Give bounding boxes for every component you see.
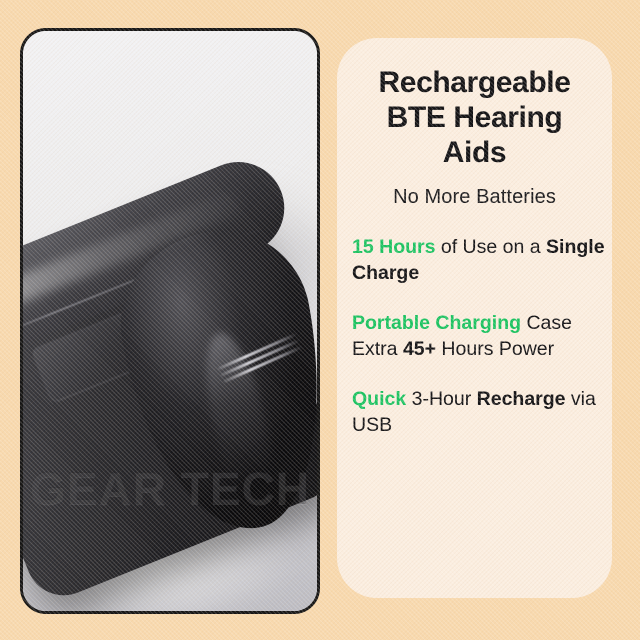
product-photo-card: GEAR TECH xyxy=(20,28,320,614)
watermark-text: GEAR TECH xyxy=(23,461,317,515)
feature-text-run: of Use on a xyxy=(435,236,546,258)
feature-text-run: Portable Charging xyxy=(352,312,521,334)
feature-text-run: Quick xyxy=(352,388,406,410)
marketing-text-card: Rechargeable BTE Hearing Aids No More Ba… xyxy=(337,38,612,598)
product-poster: GEAR TECH Rechargeable BTE Hearing Aids … xyxy=(0,0,640,640)
product-photo: GEAR TECH xyxy=(23,31,317,611)
feature-text-run: 3-Hour xyxy=(406,388,476,410)
feature-list: 15 Hours of Use on a Single Charge Porta… xyxy=(337,209,612,439)
feature-item: Quick 3-Hour Recharge via USB xyxy=(352,387,612,439)
feature-text-run: Recharge xyxy=(477,388,566,410)
feature-text-run: Hours Power xyxy=(436,338,554,360)
feature-text-run: 45+ xyxy=(403,338,436,360)
feature-item: 15 Hours of Use on a Single Charge xyxy=(352,235,612,287)
feature-item: Portable Charging Case Extra 45+ Hours P… xyxy=(352,311,612,363)
feature-text-run: 15 Hours xyxy=(352,236,435,258)
subheadline: No More Batteries xyxy=(337,170,612,209)
headline: Rechargeable BTE Hearing Aids xyxy=(337,38,612,170)
